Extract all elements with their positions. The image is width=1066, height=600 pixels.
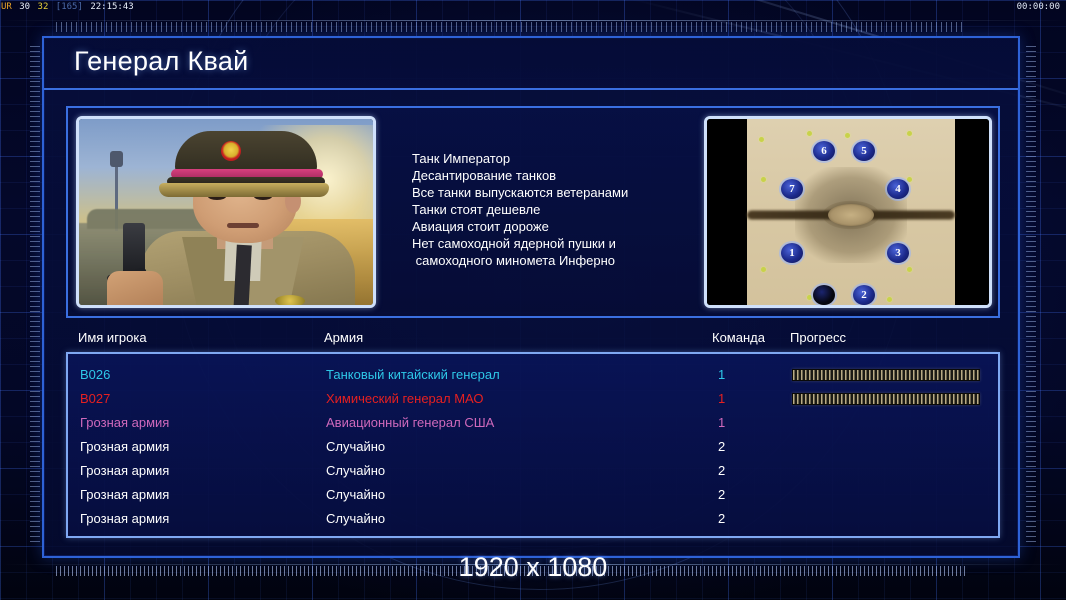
- bonus-item: Авиация стоит дороже: [412, 218, 698, 235]
- status-time: 22:15:43: [89, 2, 134, 12]
- player-army: Химический генерал МАО: [326, 391, 484, 406]
- player-army: Случайно: [326, 487, 385, 502]
- minimap-terrain: 6 5 7 4 1 3 2: [747, 119, 955, 308]
- minimap-resource: [807, 295, 812, 300]
- player-name: Грозная армия: [80, 511, 169, 526]
- portrait-mouth: [227, 223, 259, 228]
- page-title: Генерал Квай: [74, 46, 249, 77]
- player-name: Грозная армия: [80, 463, 169, 478]
- minimap-resource: [887, 297, 892, 302]
- column-header-army: Армия: [324, 330, 363, 345]
- player-table: B026Танковый китайский генерал1B027Химич…: [66, 352, 1000, 538]
- general-portrait: [79, 119, 373, 305]
- player-name: B027: [80, 391, 110, 406]
- minimap-resource: [761, 177, 766, 182]
- player-team: 2: [718, 487, 725, 502]
- portrait-wing-insignia-icon: [275, 295, 305, 305]
- minimap-start-position-3[interactable]: 3: [887, 243, 909, 263]
- player-army: Авиационный генерал США: [326, 415, 494, 430]
- player-team: 1: [718, 391, 725, 406]
- progress-bar-wrapper: [792, 393, 980, 405]
- minimap[interactable]: 6 5 7 4 1 3 2: [707, 119, 989, 305]
- minimap-resource: [759, 137, 764, 142]
- minimap-resource: [807, 131, 812, 136]
- bonus-item: Нет самоходной ядерной пушки и: [412, 235, 698, 252]
- table-row[interactable]: Грозная армияСлучайно2: [68, 508, 998, 532]
- player-team: 2: [718, 511, 725, 526]
- portrait-tie: [233, 245, 252, 305]
- player-name: Грозная армия: [80, 439, 169, 454]
- general-info-panel: Танк Император Десантирование танков Все…: [66, 106, 1000, 318]
- bonus-item: Танк Император: [412, 150, 698, 167]
- player-team: 1: [718, 367, 725, 382]
- minimap-frame[interactable]: 6 5 7 4 1 3 2: [704, 116, 992, 308]
- player-name: Грозная армия: [80, 487, 169, 502]
- minimap-start-position-5[interactable]: 5: [853, 141, 875, 161]
- portrait-hand: [107, 271, 163, 305]
- player-army: Случайно: [326, 463, 385, 478]
- game-screen: UR 30 32 [165] 22:15:43 00:00:00 Генерал…: [0, 0, 1066, 600]
- player-name: Грозная армия: [80, 415, 169, 430]
- bonus-item: Танки стоят дешевле: [412, 201, 698, 218]
- ruler-left: [30, 46, 40, 546]
- column-header-progress: Прогресс: [790, 330, 846, 345]
- bonus-item: Десантирование танков: [412, 167, 698, 184]
- status-bar: UR 30 32 [165] 22:15:43 00:00:00: [0, 0, 1066, 14]
- player-name: B026: [80, 367, 110, 382]
- progress-bar: [792, 369, 980, 381]
- ruler-right: [1026, 46, 1036, 546]
- general-bonus-list: Танк Император Десантирование танков Все…: [412, 150, 698, 269]
- minimap-resource: [845, 133, 850, 138]
- column-header-team: Команда: [712, 330, 765, 345]
- status-clock: 00:00:00: [1017, 0, 1060, 14]
- table-row[interactable]: Грозная армияСлучайно2: [68, 460, 998, 484]
- minimap-start-position-empty[interactable]: [813, 285, 835, 305]
- player-team: 1: [718, 415, 725, 430]
- portrait-cap-brim: [159, 183, 329, 197]
- column-header-name: Имя игрока: [78, 330, 147, 345]
- player-army: Случайно: [326, 511, 385, 526]
- progress-bar-wrapper: [792, 369, 980, 381]
- minimap-resource: [907, 177, 912, 182]
- player-team: 2: [718, 463, 725, 478]
- bonus-item: Все танки выпускаются ветеранами: [412, 184, 698, 201]
- status-bracket: [165]: [55, 2, 84, 12]
- player-team: 2: [718, 439, 725, 454]
- main-panel: Генерал Квай: [42, 36, 1020, 558]
- divider-line-top: [0, 20, 1066, 21]
- portrait-cap-badge-icon: [221, 141, 241, 161]
- resolution-label: 1920 x 1080: [0, 552, 1066, 583]
- player-army: Танковый китайский генерал: [326, 367, 500, 382]
- player-table-header: Имя игрока Армия Команда Прогресс: [66, 330, 1000, 350]
- status-tag: UR: [0, 2, 13, 12]
- minimap-start-position-4[interactable]: 4: [887, 179, 909, 199]
- minimap-resource: [761, 267, 766, 272]
- table-row[interactable]: Грозная армияАвиационный генерал США1: [68, 412, 998, 436]
- table-row[interactable]: Грозная армияСлучайно2: [68, 484, 998, 508]
- minimap-center-island: [828, 204, 874, 226]
- progress-bar: [792, 393, 980, 405]
- player-army: Случайно: [326, 439, 385, 454]
- minimap-start-position-1[interactable]: 1: [781, 243, 803, 263]
- table-row[interactable]: Грозная армияСлучайно2: [68, 436, 998, 460]
- minimap-start-position-7[interactable]: 7: [781, 179, 803, 199]
- ruler-top: [56, 22, 966, 32]
- minimap-resource: [907, 267, 912, 272]
- status-value-2: 32: [37, 2, 50, 12]
- minimap-start-position-2[interactable]: 2: [853, 285, 875, 305]
- table-row[interactable]: B027Химический генерал МАО1: [68, 388, 998, 412]
- general-portrait-frame: [76, 116, 376, 308]
- minimap-start-position-6[interactable]: 6: [813, 141, 835, 161]
- minimap-resource: [907, 131, 912, 136]
- table-row[interactable]: B026Танковый китайский генерал1: [68, 364, 998, 388]
- status-value-1: 30: [18, 2, 31, 12]
- title-bar: Генерал Квай: [44, 38, 1018, 90]
- bonus-item: самоходного миномета Инферно: [412, 252, 698, 269]
